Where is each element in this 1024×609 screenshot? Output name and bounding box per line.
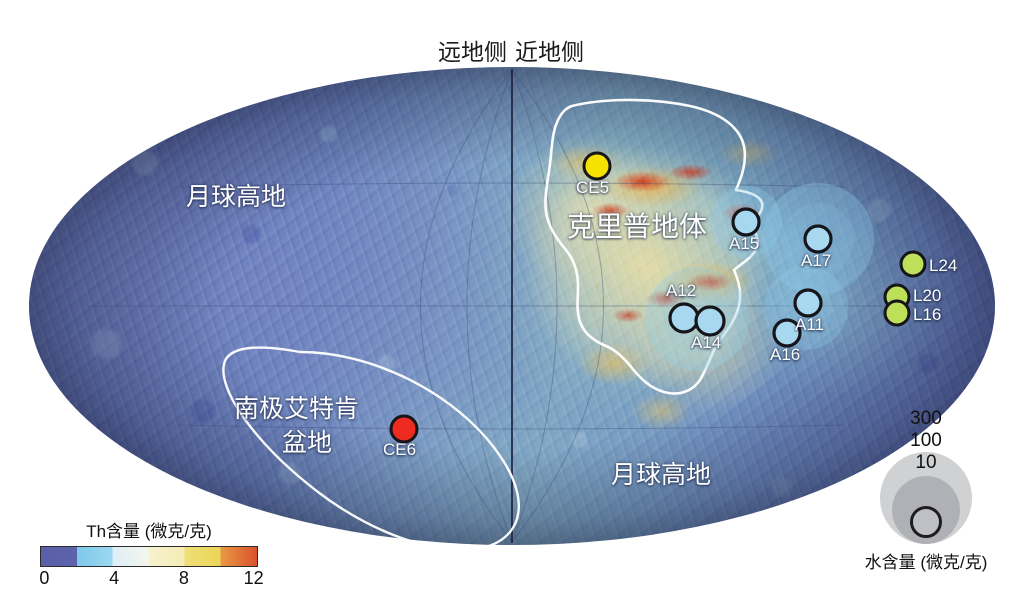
region-label-highlands-near: 月球高地	[611, 455, 711, 491]
region-label-highlands-far: 月球高地	[186, 177, 286, 213]
water-content-legend: 300 100 10 水含量 (微克/克)	[846, 452, 1006, 573]
thorium-tick-12: 12	[244, 568, 264, 589]
thorium-colorbar	[40, 546, 258, 567]
site-label-A17: A17	[801, 251, 831, 271]
site-label-L24: L24	[929, 256, 957, 276]
site-label-CE5: CE5	[576, 178, 609, 198]
water-circle-10	[910, 506, 942, 538]
water-legend-title: 水含量 (微克/克)	[846, 548, 1006, 573]
region-label-spa-basin-line1: 南极艾特肯	[234, 389, 359, 425]
thorium-legend-title: Th含量 (微克/克)	[40, 517, 258, 542]
site-label-A16: A16	[770, 345, 800, 365]
thorium-colorbar-ticks: 04812	[40, 568, 258, 590]
far-side-label: 远地侧	[438, 33, 507, 67]
water-value-300: 300	[910, 408, 942, 430]
thorium-tick-0: 0	[39, 568, 49, 589]
site-label-CE6: CE6	[383, 440, 416, 460]
site-label-A12: A12	[666, 281, 696, 301]
site-label-A11: A11	[795, 315, 824, 335]
region-label-spa-basin-line2: 盆地	[282, 423, 332, 459]
water-legend-circles: 300 100 10	[871, 452, 981, 544]
site-label-A15: A15	[729, 234, 759, 254]
lunar-map-figure: 远地侧 近地侧	[0, 0, 1024, 609]
site-label-L16: L16	[913, 305, 941, 325]
thorium-tick-8: 8	[179, 568, 189, 589]
site-label-L20: L20	[913, 286, 941, 306]
site-label-A14: A14	[691, 333, 721, 353]
near-side-label: 近地侧	[515, 33, 584, 67]
water-value-100: 100	[910, 430, 942, 452]
water-value-10: 10	[915, 452, 936, 474]
region-label-kreep-terrane: 克里普地体	[567, 205, 707, 245]
thorium-tick-4: 4	[109, 568, 119, 589]
thorium-legend: Th含量 (微克/克) 04812	[40, 517, 258, 590]
